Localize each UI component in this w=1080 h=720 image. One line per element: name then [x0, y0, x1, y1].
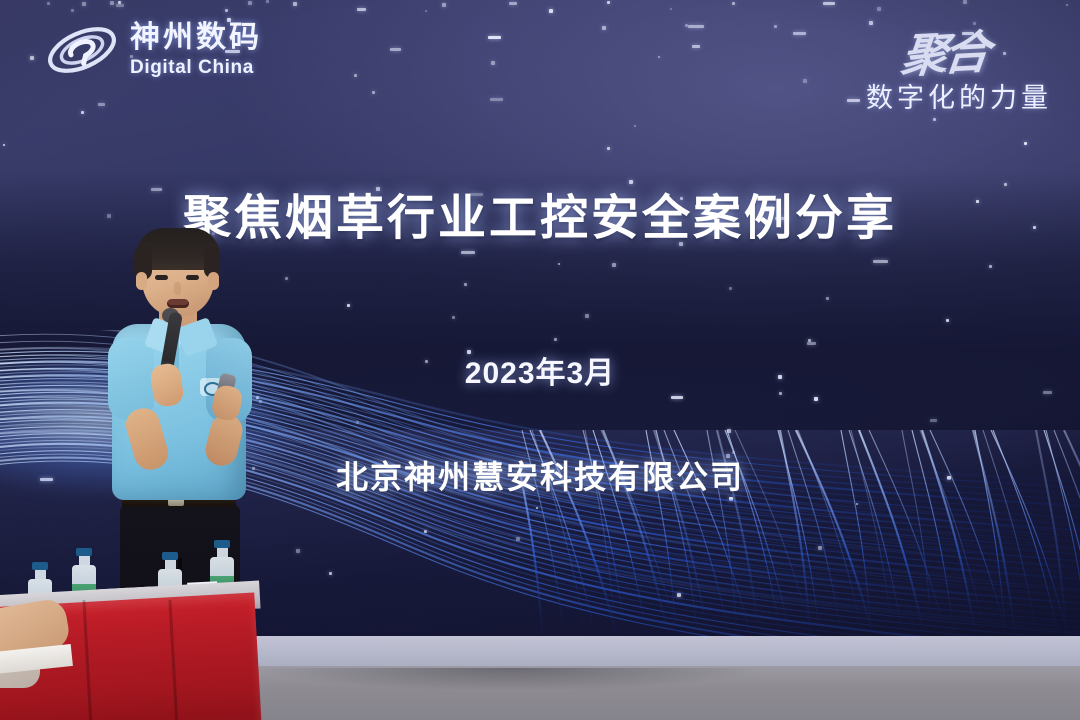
speaker-eye-right: [186, 275, 199, 280]
speaker-eye-left: [155, 275, 168, 280]
speaker-eyebrow-right: [184, 266, 202, 270]
digital-china-swirl-logo-icon: [44, 20, 120, 80]
brand-logo-text: 神州数码 Digital China: [130, 23, 262, 77]
brand-name-en: Digital China: [130, 58, 262, 77]
speaker-ear-left: [136, 272, 147, 290]
speaker-nose: [174, 282, 181, 295]
slogan-brush-text: 聚合: [898, 16, 990, 86]
speaker-eyebrow-left: [152, 266, 170, 270]
screenshot-root: 神州数码 Digital China 聚合 数字化的力量 聚焦烟草行业工控安全案…: [0, 0, 1080, 720]
speaker-ear-right: [208, 272, 219, 290]
brand-logo: 神州数码 Digital China: [44, 20, 262, 80]
speaker-mouth: [167, 299, 189, 308]
brand-name-cn: 神州数码: [130, 23, 262, 53]
stage-floor-shadow: [230, 668, 790, 698]
event-slogan: 聚合 数字化的力量: [866, 18, 1052, 115]
